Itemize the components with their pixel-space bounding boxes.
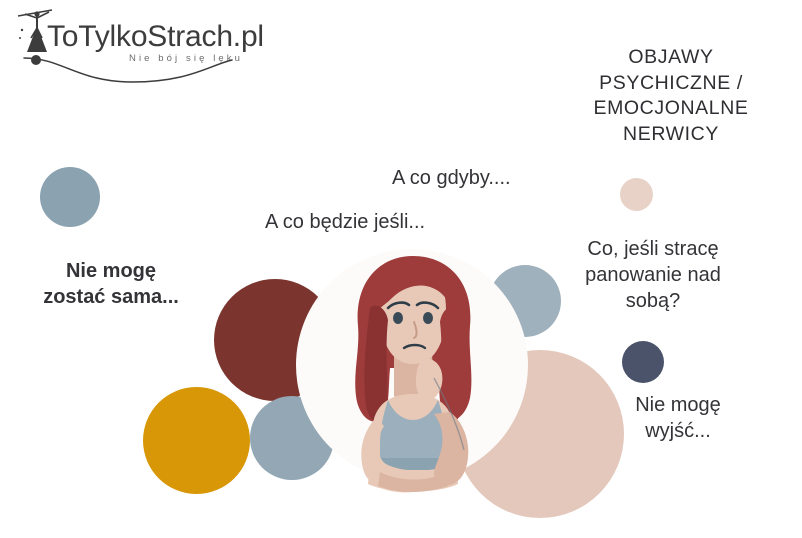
wave-swoosh-icon — [22, 54, 262, 86]
thought-text-gdyby: A co gdyby.... — [392, 165, 511, 191]
page-title-line-4: NERWICY — [552, 122, 790, 148]
thought-text-bedzie: A co będzie jeśli... — [265, 209, 425, 235]
thought-text-strace: Co, jeśli stracę panowanie nad sobą? — [557, 236, 749, 314]
circle-navy-right — [622, 341, 664, 383]
page-title-line-3: EMOCJONALNE — [552, 96, 790, 122]
circle-slate-top-left — [40, 167, 100, 227]
site-logo[interactable]: ToTylkoStrach.pl Nie bój się lęku — [14, 8, 284, 86]
infographic-canvas: ToTylkoStrach.pl Nie bój się lęku OBJAWY… — [0, 0, 802, 538]
thought-text-wyjsc: Nie mogę wyjść... — [602, 392, 754, 444]
page-title-line-1: OBJAWY — [552, 45, 790, 71]
page-title-line-2: PSYCHICZNE / — [552, 71, 790, 97]
worried-woman-illustration — [318, 248, 508, 500]
thought-text-sama: Nie mogę zostać sama... — [36, 258, 186, 310]
circle-amber-bottom-left — [143, 387, 250, 494]
circle-blush-small-right — [620, 178, 653, 211]
logo-wordmark: ToTylkoStrach.pl — [47, 20, 264, 54]
page-title: OBJAWY PSYCHICZNE / EMOCJONALNE NERWICY — [552, 45, 790, 148]
